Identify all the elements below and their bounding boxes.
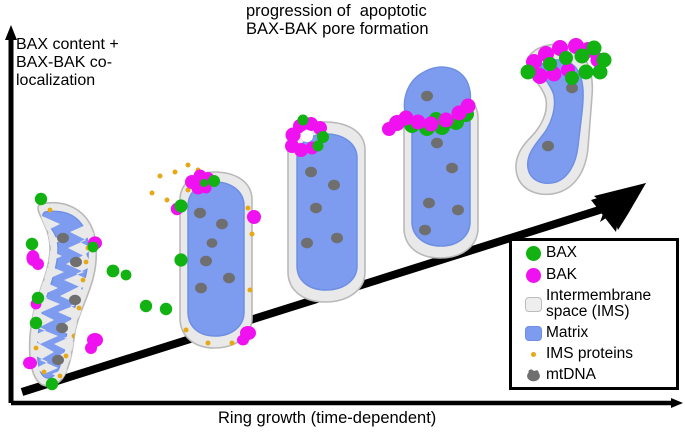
legend-box: BAX BAK Intermembrane space (IMS) Matrix <box>509 238 679 390</box>
bak-magenta-circle-icon <box>520 268 546 283</box>
figure-canvas: progression of apoptotic BAX-BAK pore fo… <box>0 0 685 434</box>
matrix-2 <box>188 182 244 336</box>
mitochondrion-stage-2 <box>150 163 262 349</box>
legend-item-ims-proteins: IMS proteins <box>520 346 633 362</box>
bax-green-circle-icon <box>520 246 546 261</box>
mitochondrion-stage-5 <box>516 38 612 194</box>
legend-item-ims: Intermembrane space (IMS) <box>520 288 651 321</box>
legend-label-mtdna: mtDNA <box>546 367 596 383</box>
legend-item-bax: BAX <box>520 245 577 261</box>
legend-label-bax: BAX <box>546 245 577 261</box>
ims-protein-orange-dot-icon <box>520 352 546 357</box>
legend-item-matrix: Matrix <box>520 325 588 341</box>
mitochondrion-stage-4 <box>382 67 478 258</box>
legend-label-ims: Intermembrane space (IMS) <box>546 288 651 321</box>
legend-label-ims-proteins: IMS proteins <box>546 346 633 362</box>
matrix-3 <box>297 134 357 290</box>
legend-label-matrix: Matrix <box>546 325 588 341</box>
x-axis <box>11 398 683 408</box>
ims-gray-square-icon <box>520 297 546 312</box>
legend-item-bak: BAK <box>520 267 577 283</box>
y-axis-label: BAX content + BAX-BAK co- localization <box>16 36 119 90</box>
matrix-blue-square-icon <box>520 326 546 341</box>
legend-label-bak: BAK <box>546 267 577 283</box>
legend-item-mtdna: mtDNA <box>520 367 596 383</box>
mtdna-gray-blob-icon <box>520 368 546 382</box>
mitochondrion-stage-3 <box>285 115 365 303</box>
figure-title: progression of apoptotic BAX-BAK pore fo… <box>246 2 429 39</box>
bax-bak-ring-5 <box>521 38 612 85</box>
x-axis-label: Ring growth (time-dependent) <box>218 409 436 427</box>
